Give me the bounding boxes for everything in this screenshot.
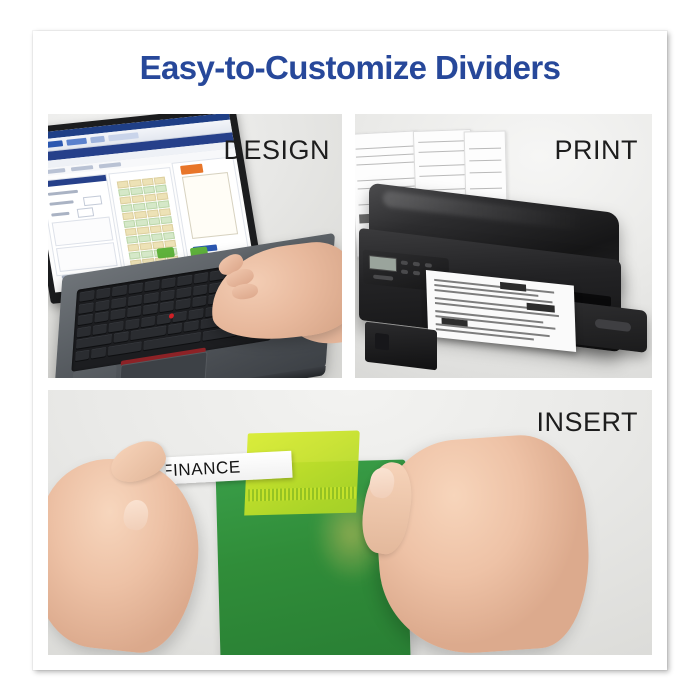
label-strip-text: FINANCE [165,457,241,481]
printer-paper-cassette [365,322,437,371]
product-card: Easy-to-Customize Dividers [33,31,667,670]
printer-illustration [355,136,652,378]
panel-design: DESIGN [48,114,342,378]
panel-insert: FINANCE INSERT [48,390,652,655]
panel-tag-design: DESIGN [223,135,330,166]
tray-grip [595,319,631,332]
printer-lcd-display [369,255,397,272]
panel-print: PRINT [355,114,652,378]
hand-holding-divider [371,431,595,655]
panel-tag-insert: INSERT [536,407,638,438]
page-title: Easy-to-Customize Dividers [33,49,667,87]
product-image-stage: Easy-to-Customize Dividers [0,0,700,700]
panel-tag-print: PRINT [555,135,639,166]
